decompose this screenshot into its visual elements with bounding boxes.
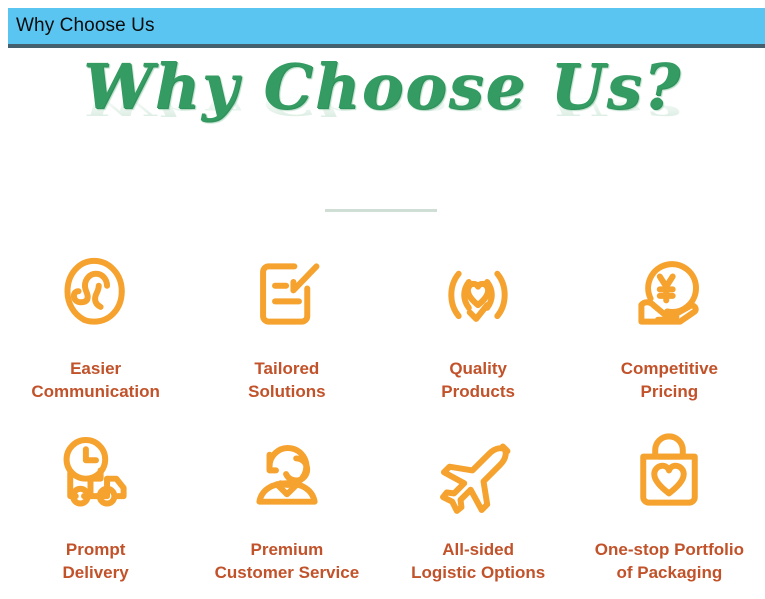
feature-label: All-sided Logistic Options bbox=[411, 539, 545, 584]
feature-card-competitive-pricing[interactable]: Competitive Pricing bbox=[574, 244, 765, 403]
feature-card-tailored-solutions[interactable]: Tailored Solutions bbox=[191, 244, 382, 403]
heart-waves-check-icon bbox=[428, 244, 528, 344]
shopping-bag-heart-icon bbox=[619, 425, 719, 525]
hero-title-stack: Why Choose Us? Why Choose Us? bbox=[83, 56, 682, 181]
delivery-truck-clock-icon bbox=[46, 425, 146, 525]
window-title: Why Choose Us bbox=[16, 15, 155, 37]
feature-label: Quality Products bbox=[441, 358, 515, 403]
page-title-reflection: Why Choose Us? bbox=[83, 93, 682, 119]
feature-card-quality-products[interactable]: Quality Products bbox=[383, 244, 574, 403]
page-content: Why Choose Us? Why Choose Us? Easier Com… bbox=[0, 48, 765, 595]
feature-card-one-stop-portfolio-of-packaging[interactable]: One-stop Portfolio of Packaging bbox=[574, 425, 765, 584]
feature-label: One-stop Portfolio of Packaging bbox=[595, 539, 744, 584]
feature-card-premium-customer-service[interactable]: Premium Customer Service bbox=[191, 425, 382, 584]
feature-label: Tailored Solutions bbox=[248, 358, 325, 403]
window-titlebar-area: Why Choose Us bbox=[0, 0, 765, 48]
hero-section: Why Choose Us? Why Choose Us? bbox=[0, 48, 765, 174]
feature-card-prompt-delivery[interactable]: Prompt Delivery bbox=[0, 425, 191, 584]
feature-grid: Easier Communication Tailored Solutions bbox=[0, 244, 765, 584]
feature-label: Premium Customer Service bbox=[215, 539, 360, 584]
document-pencil-icon bbox=[237, 244, 337, 344]
window-titlebar: Why Choose Us bbox=[8, 8, 765, 48]
ear-listening-icon bbox=[46, 244, 146, 344]
feature-card-easier-communication[interactable]: Easier Communication bbox=[0, 244, 191, 403]
headset-agent-icon bbox=[237, 425, 337, 525]
feature-card-all-sided-logistic-options[interactable]: All-sided Logistic Options bbox=[383, 425, 574, 584]
feature-label: Prompt Delivery bbox=[63, 539, 129, 584]
feature-label: Easier Communication bbox=[31, 358, 159, 403]
hand-coin-yen-icon bbox=[619, 244, 719, 344]
airplane-icon bbox=[428, 425, 528, 525]
hero-divider bbox=[325, 209, 437, 212]
feature-label: Competitive Pricing bbox=[621, 358, 718, 403]
